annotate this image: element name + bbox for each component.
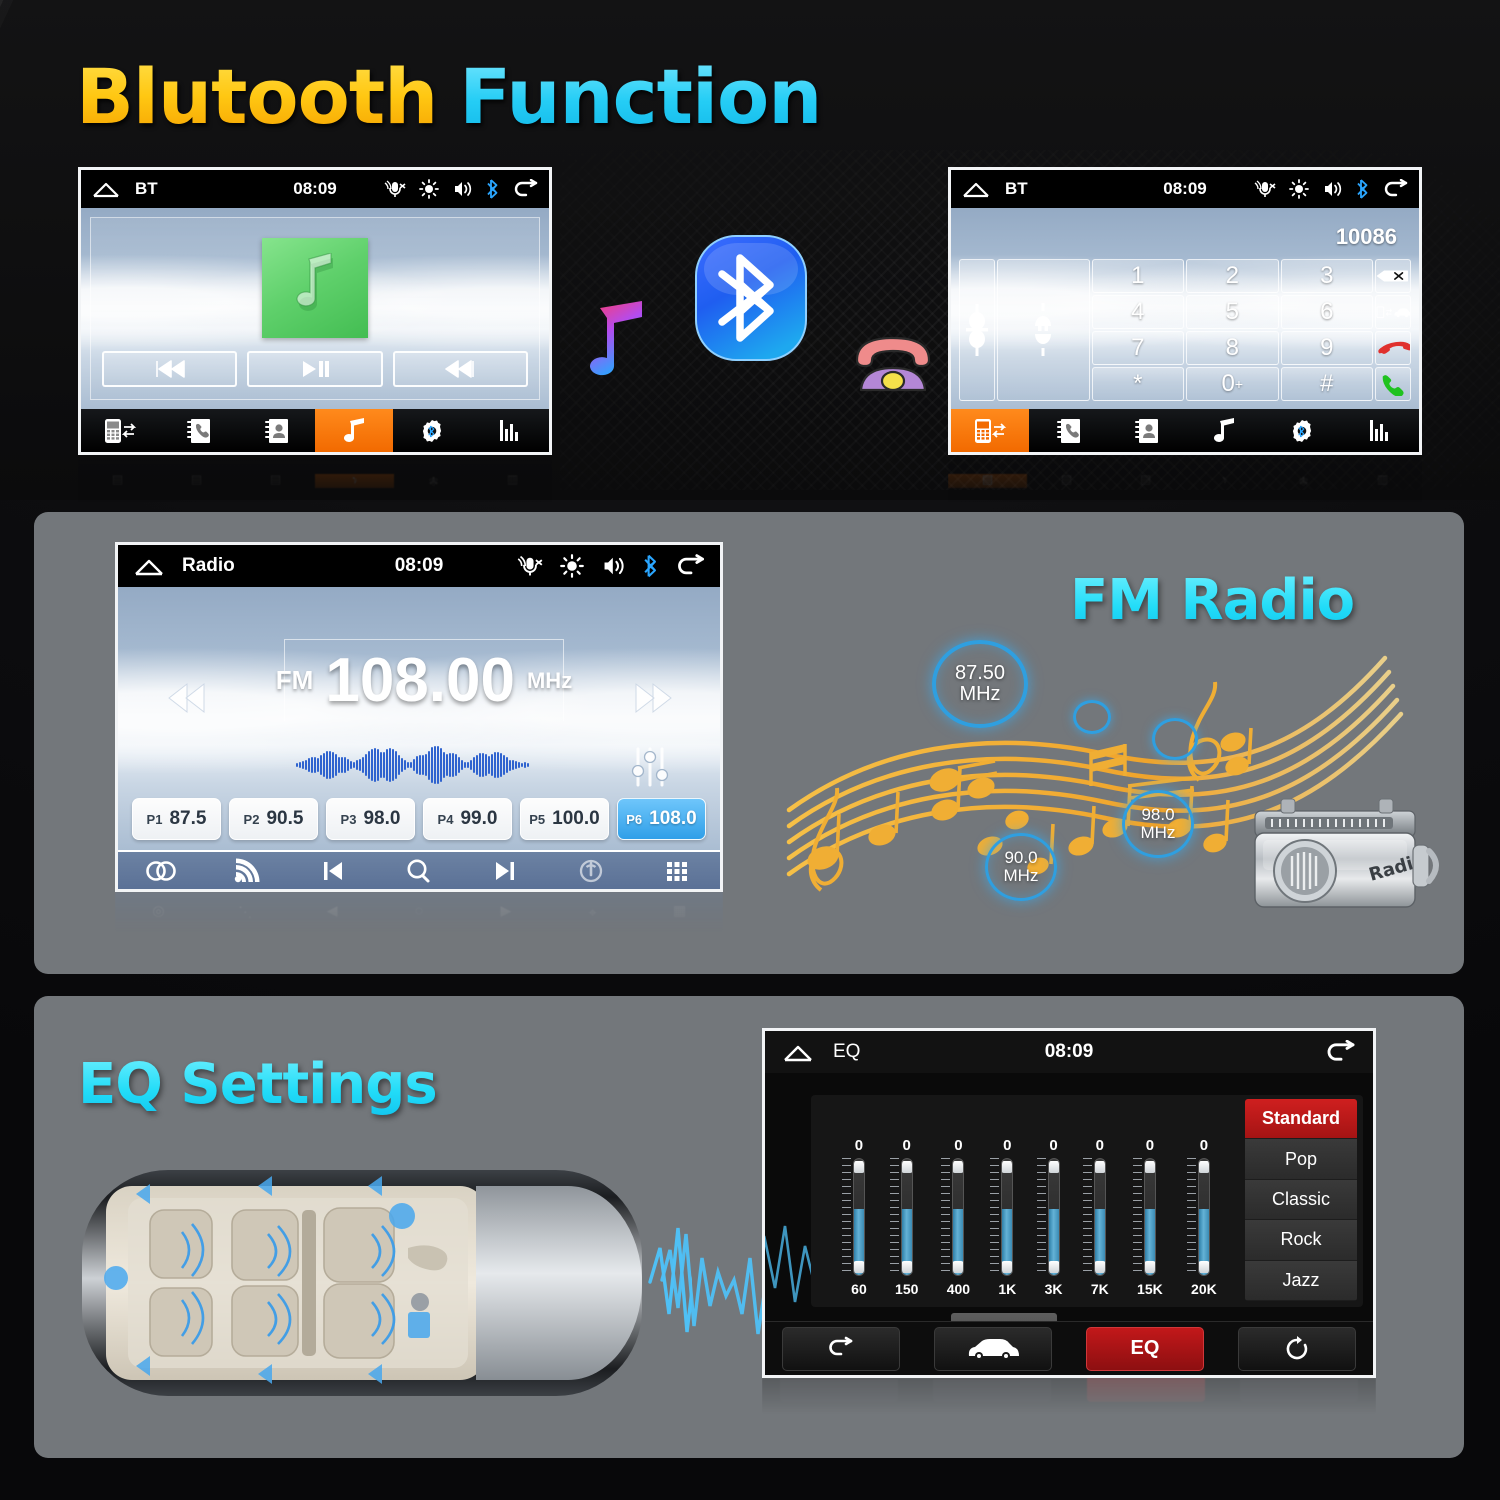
dial-key-0-plus: + (1235, 376, 1243, 392)
eq-preset-standard[interactable]: Standard (1245, 1099, 1357, 1139)
home-icon[interactable] (91, 179, 121, 199)
eq-band-rail-20K (1187, 1158, 1196, 1276)
brightness-icon[interactable] (1289, 179, 1309, 199)
step-backward-icon (320, 859, 346, 883)
plug-disconnected-key[interactable] (997, 259, 1090, 401)
step-forward-icon (492, 859, 518, 883)
dialpad-wrapper: 10086 1 2 3 (959, 216, 1411, 401)
telephone-graphic (845, 330, 941, 399)
home-icon[interactable] (132, 555, 166, 577)
preset-p4[interactable]: P4 99.0 (423, 798, 512, 840)
rewind-icon (166, 681, 210, 715)
eq-band-rail-60 (842, 1158, 851, 1276)
dialer-navbar (951, 409, 1419, 452)
eq-band-knob-top-1K[interactable] (1001, 1161, 1013, 1173)
nav-seek-next[interactable] (462, 859, 548, 883)
nav-stereo[interactable] (118, 859, 204, 883)
fm-bubble-3-unit: MHz (1141, 824, 1176, 842)
eq-band-knob-top-15K[interactable] (1144, 1161, 1156, 1173)
eq-band-track-150[interactable] (901, 1158, 913, 1276)
signal-waves-icon (233, 858, 261, 884)
eq-band-value-60: 0 (855, 1137, 863, 1154)
eq-band-knob-top-400[interactable] (952, 1161, 964, 1173)
eq-band-knob-top-150[interactable] (901, 1161, 913, 1173)
eq-car-button[interactable] (934, 1327, 1052, 1371)
eq-bottom-bar: EQ (765, 1321, 1373, 1375)
search-icon (405, 858, 433, 884)
preset-p1[interactable]: P1 87.5 (132, 798, 221, 840)
eq-band-knob-bottom-15K[interactable] (1144, 1261, 1156, 1273)
eq-screen-label: EQ (833, 1041, 860, 1063)
voice-mic-icon[interactable] (1254, 179, 1276, 199)
band-label: FM (276, 665, 314, 696)
eq-preset-list: Standard Pop Classic Rock Jazz (1245, 1099, 1357, 1301)
nav-dialpad[interactable] (81, 409, 159, 452)
preset-p6-label: P6 (626, 812, 642, 827)
nav-settings[interactable] (1263, 409, 1341, 452)
eq-band-knob-bottom-60[interactable] (853, 1261, 865, 1273)
back-arrow-icon (826, 1336, 856, 1362)
eq-band-20K[interactable]: 020K (1191, 1137, 1217, 1297)
radio-screen[interactable]: Radio 08:09 (115, 542, 723, 892)
radio-source-label: Radio (182, 555, 235, 577)
fm-bubble-3: 98.0 MHz (1122, 790, 1194, 858)
media-source-label: BT (135, 179, 158, 199)
dialer-content-area: 10086 1 2 3 (951, 208, 1419, 409)
music-note-icon (285, 253, 345, 323)
car-speaker-diagram (72, 1152, 692, 1412)
eq-back-button[interactable] (782, 1327, 900, 1371)
preset-p3-value: 98.0 (363, 808, 400, 830)
reset-circle-icon (1283, 1335, 1311, 1363)
voice-mic-icon[interactable] (384, 179, 406, 199)
dial-key-3[interactable]: 3 (1281, 259, 1374, 293)
dialer-status-icons (1254, 179, 1409, 199)
radio-clock: 08:09 (395, 555, 444, 577)
dial-key-0-label: 0 (1221, 370, 1234, 398)
preset-p3-label: P3 (341, 812, 357, 827)
dial-key-5[interactable]: 5 (1186, 295, 1279, 329)
eq-band-track-1K[interactable] (1001, 1158, 1013, 1276)
previous-track-button[interactable] (102, 351, 237, 387)
nav-equalizer[interactable] (471, 409, 549, 452)
dialpad-grid: 1 2 3 (959, 259, 1411, 401)
eq-band-knob-bottom-150[interactable] (901, 1261, 913, 1273)
eq-band-knob-bottom-7K[interactable] (1094, 1261, 1106, 1273)
eq-band-label-150: 150 (895, 1281, 918, 1297)
eq-status-icons (1325, 1040, 1357, 1064)
volume-icon[interactable] (1322, 179, 1344, 199)
play-pause-icon (300, 360, 330, 378)
preset-p4-value: 99.0 (460, 808, 497, 830)
fm-bubble-2-value: 90.0 (1004, 849, 1037, 867)
eq-band-track-400[interactable] (952, 1158, 964, 1276)
fast-forward-icon (630, 681, 674, 715)
eq-band-label-1K: 1K (998, 1281, 1016, 1297)
eq-band-value-15K: 0 (1146, 1137, 1154, 1154)
preset-p6-value: 108.0 (649, 808, 697, 830)
nav-equalizer[interactable] (1341, 409, 1419, 452)
eq-eq-button[interactable]: EQ (1086, 1327, 1204, 1371)
car-icon (966, 1336, 1020, 1362)
eq-band-track-60[interactable] (853, 1158, 865, 1276)
eq-band-label-60: 60 (851, 1281, 867, 1297)
music-note-graphic (570, 300, 654, 397)
eq-band-track-7K[interactable] (1094, 1158, 1106, 1276)
preset-p1-label: P1 (147, 812, 163, 827)
radio-navbar (118, 850, 720, 889)
grid-apps-icon (664, 858, 690, 884)
radio-content-area: FM 108.00 MHz P1 87.5 P2 90.5 P3 98.0 P4… (118, 587, 720, 850)
eq-adjust-panel: 0600150040001K03K07K015K020K Standard Po… (811, 1095, 1363, 1307)
bt-media-screen[interactable]: BT 08:09 (78, 167, 552, 455)
eq-band-label-400: 400 (947, 1281, 970, 1297)
eq-band-knob-top-60[interactable] (853, 1161, 865, 1173)
play-pause-button[interactable] (247, 351, 382, 387)
album-art (262, 238, 368, 338)
nav-settings[interactable] (393, 409, 471, 452)
preset-p2[interactable]: P2 90.5 (229, 798, 318, 840)
eq-band-value-3K: 0 (1049, 1137, 1057, 1154)
eq-band-value-20K: 0 (1200, 1137, 1208, 1154)
eq-band-track-3K[interactable] (1048, 1158, 1060, 1276)
preset-p5-label: P5 (529, 812, 545, 827)
preset-p5-value: 100.0 (552, 808, 600, 830)
eq-screen[interactable]: EQ 08:09 0600150040001K03K07K015K020K St… (762, 1028, 1376, 1378)
radio-status-icons (517, 554, 706, 578)
bluetooth-icon[interactable] (487, 179, 500, 199)
eq-shortcut-button[interactable] (630, 745, 670, 794)
dial-key-4[interactable]: 4 (1092, 295, 1185, 329)
brightness-icon[interactable] (419, 179, 439, 199)
end-call-key[interactable] (1375, 331, 1411, 365)
fm-bubble-2-unit: MHz (1004, 867, 1039, 885)
skip-backward-icon (153, 360, 187, 378)
dialer-clock: 08:09 (1163, 179, 1206, 199)
eq-status-bar: EQ 08:09 (765, 1031, 1373, 1073)
eq-band-value-1K: 0 (1003, 1137, 1011, 1154)
eq-band-3K[interactable]: 03K (1045, 1137, 1063, 1297)
volume-icon[interactable] (452, 179, 474, 199)
eq-band-knob-top-7K[interactable] (1094, 1161, 1106, 1173)
eq-preset-classic[interactable]: Classic (1245, 1180, 1357, 1220)
eq-settings-heading: EQ Settings (78, 1052, 437, 1117)
eq-clock: 08:09 (1045, 1041, 1094, 1063)
back-arrow-icon[interactable] (1383, 179, 1409, 199)
sliders-icon (630, 745, 670, 789)
eq-band-track-15K[interactable] (1144, 1158, 1156, 1276)
eq-band-track-20K[interactable] (1198, 1158, 1210, 1276)
fm-bubble-3-value: 98.0 (1141, 806, 1174, 824)
back-arrow-icon[interactable] (676, 554, 706, 578)
eq-band-rail-400 (941, 1158, 950, 1276)
eq-band-knob-top-3K[interactable] (1048, 1161, 1060, 1173)
dial-key-9[interactable]: 9 (1281, 331, 1374, 365)
preset-p1-value: 87.5 (169, 808, 206, 830)
fm-bubble-1-value: 87.50 (955, 663, 1005, 684)
eq-band-400[interactable]: 0400 (947, 1137, 970, 1297)
eq-band-label-3K: 3K (1045, 1281, 1063, 1297)
hangup-red-icon (1376, 337, 1410, 359)
eq-band-knob-bottom-3K[interactable] (1048, 1261, 1060, 1273)
media-transport-controls (102, 351, 528, 387)
eq-band-label-7K: 7K (1091, 1281, 1109, 1297)
plug-disconnected-icon (1031, 302, 1055, 358)
bluetooth-icon[interactable] (1357, 179, 1370, 199)
page-title: BlutoothFunction (76, 52, 821, 141)
nav-music[interactable] (1185, 409, 1263, 452)
media-clock: 08:09 (293, 179, 336, 199)
call-key[interactable] (1375, 367, 1411, 401)
eq-band-rail-150 (890, 1158, 899, 1276)
dial-key-star[interactable]: * (1092, 367, 1185, 401)
next-track-button[interactable] (393, 351, 528, 387)
dial-key-0[interactable]: 0+ (1186, 367, 1279, 401)
preset-p2-value: 90.5 (266, 808, 303, 830)
nav-contacts[interactable] (1107, 409, 1185, 452)
fm-bubble-2: 90.0 MHz (985, 833, 1057, 901)
eq-band-7K[interactable]: 07K (1091, 1137, 1109, 1297)
frequency-unit: MHz (527, 668, 572, 694)
preset-p2-label: P2 (244, 812, 260, 827)
eq-band-label-20K: 20K (1191, 1281, 1217, 1297)
nav-call-log[interactable] (1029, 409, 1107, 452)
eq-band-rail-3K (1037, 1158, 1046, 1276)
dial-key-2[interactable]: 2 (1186, 259, 1279, 293)
eq-band-1K[interactable]: 01K (998, 1137, 1016, 1297)
fm-bubble-small-1 (1073, 700, 1111, 734)
eq-band-label-15K: 15K (1137, 1281, 1163, 1297)
media-status-icons (384, 179, 539, 199)
eq-band-150[interactable]: 0150 (895, 1137, 918, 1297)
back-arrow-icon[interactable] (1325, 1040, 1357, 1064)
nav-preset-grid[interactable] (634, 858, 720, 884)
brightness-icon[interactable] (560, 554, 584, 578)
eq-band-value-150: 0 (903, 1137, 911, 1154)
media-navbar (81, 409, 549, 452)
call-green-icon (1376, 372, 1410, 396)
home-icon[interactable] (961, 179, 991, 199)
dialer-source-label: BT (1005, 179, 1028, 199)
skip-forward-icon (443, 360, 477, 378)
eq-band-knob-bottom-1K[interactable] (1001, 1261, 1013, 1273)
preset-p3[interactable]: P3 98.0 (326, 798, 415, 840)
nav-music[interactable] (315, 409, 393, 452)
dialer-status-bar: BT 08:09 (951, 170, 1419, 208)
audio-waveform (296, 745, 558, 785)
media-status-bar: BT 08:09 (81, 170, 549, 208)
nav-contacts[interactable] (237, 409, 315, 452)
antenna-icon (577, 858, 605, 884)
nav-call-log[interactable] (159, 409, 237, 452)
fm-bubble-1-unit: MHz (959, 684, 1000, 705)
eq-band-15K[interactable]: 015K (1137, 1137, 1163, 1297)
fm-bubble-1: 87.50 MHz (932, 640, 1028, 728)
eq-band-knob-bottom-400[interactable] (952, 1261, 964, 1273)
dial-key-1[interactable]: 1 (1092, 259, 1185, 293)
tune-down-button[interactable] (166, 681, 210, 720)
nav-seek-prev[interactable] (290, 859, 376, 883)
bt-dialer-screen[interactable]: BT 08:09 10086 (948, 167, 1422, 455)
eq-preset-jazz[interactable]: Jazz (1245, 1261, 1357, 1301)
eq-band-60[interactable]: 060 (851, 1137, 867, 1297)
dial-key-6[interactable]: 6 (1281, 295, 1374, 329)
home-icon[interactable] (781, 1041, 815, 1063)
bluetooth-icon[interactable] (644, 554, 659, 578)
eq-content-area: 0600150040001K03K07K015K020K Standard Po… (765, 1073, 1373, 1375)
eq-band-rail-7K (1083, 1158, 1092, 1276)
nav-dialpad[interactable] (951, 409, 1029, 452)
dial-key-7[interactable]: 7 (1092, 331, 1185, 365)
back-arrow-icon[interactable] (513, 179, 539, 199)
media-content-area (81, 208, 549, 409)
nav-antenna[interactable] (548, 858, 634, 884)
page-title-word-bluetooth: Blutooth (76, 52, 437, 141)
preset-buttons: P1 87.5 P2 90.5 P3 98.0 P4 99.0 P5 100.0… (132, 798, 706, 840)
phone-to-car-icon (1376, 299, 1410, 325)
frequency-value: 108.00 (325, 650, 515, 712)
backspace-x-icon (1376, 265, 1410, 287)
dialed-number-display: 10086 (1336, 224, 1397, 250)
preset-p5[interactable]: P5 100.0 (520, 798, 609, 840)
bluetooth-logo (692, 232, 810, 369)
eq-band-value-400: 0 (954, 1137, 962, 1154)
page-title-word-function: Function (459, 52, 821, 141)
eq-band-value-7K: 0 (1096, 1137, 1104, 1154)
stereo-loop-icon (143, 859, 179, 883)
transfer-audio-key[interactable] (1375, 295, 1411, 329)
tune-up-button[interactable] (630, 681, 674, 720)
plug-connected-icon (965, 302, 989, 358)
eq-preset-pop[interactable]: Pop (1245, 1139, 1357, 1179)
media-inner-frame (90, 217, 540, 400)
dial-key-hash[interactable]: # (1281, 367, 1374, 401)
dial-key-8[interactable]: 8 (1186, 331, 1279, 365)
preset-p4-label: P4 (438, 812, 454, 827)
fm-bubble-small-2 (1152, 718, 1198, 760)
frequency-display: FM 108.00 MHz (284, 639, 564, 721)
plug-connected-key[interactable] (959, 259, 995, 401)
nav-scan[interactable] (376, 858, 462, 884)
voice-mic-icon[interactable] (517, 554, 543, 578)
eq-band-sliders: 0600150040001K03K07K015K020K (811, 1095, 1245, 1307)
volume-icon[interactable] (601, 554, 627, 578)
preset-p6[interactable]: P6 108.0 (617, 798, 706, 840)
eq-reset-button[interactable] (1238, 1327, 1356, 1371)
eq-band-rail-1K (990, 1158, 999, 1276)
eq-band-knob-top-20K[interactable] (1198, 1161, 1210, 1173)
eq-band-rail-15K (1133, 1158, 1142, 1276)
eq-preset-rock[interactable]: Rock (1245, 1220, 1357, 1260)
eq-band-knob-bottom-20K[interactable] (1198, 1261, 1210, 1273)
portable-radio-graphic: Radio (1243, 793, 1453, 913)
radio-status-bar: Radio 08:09 (118, 545, 720, 587)
backspace-key[interactable] (1375, 259, 1411, 293)
fm-radio-heading: FM Radio (1070, 568, 1354, 633)
nav-signal[interactable] (204, 858, 290, 884)
